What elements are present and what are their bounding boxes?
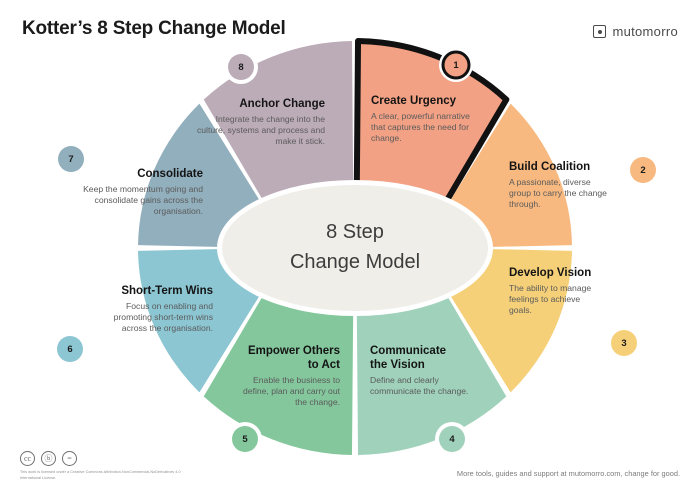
step-badge-1[interactable]: 1 [439, 48, 473, 82]
support-text: More tools, guides and support at mutomo… [457, 469, 680, 478]
segment-description: Focus on enabling andpromoting short-ter… [114, 301, 214, 333]
segment-title: Build Coalition [509, 161, 590, 173]
segment-title: Create Urgency [371, 95, 457, 107]
step-badge-7[interactable]: 7 [54, 142, 88, 176]
cc-by-icon: ⓑ [41, 451, 56, 466]
badge-number: 4 [449, 434, 455, 445]
badge-number: 1 [453, 60, 459, 71]
step-badge-5[interactable]: 5 [228, 422, 262, 456]
badge-number: 8 [238, 62, 243, 73]
hub-line-1: 8 Step [326, 221, 384, 243]
segment-title: Anchor Change [239, 98, 325, 110]
badge-number: 5 [242, 434, 248, 445]
badge-number: 2 [640, 165, 645, 176]
wheel-hub: 8 Step Change Model [217, 180, 493, 316]
step-badge-4[interactable]: 4 [435, 422, 469, 456]
segment-title: Develop Vision [509, 267, 591, 279]
badge-number: 3 [621, 338, 626, 349]
license-text: This work is licensed under a Creative C… [20, 470, 200, 481]
cc-nd-icon: = [62, 451, 77, 466]
cc-icon: cc [20, 451, 35, 466]
step-badge-3[interactable]: 3 [607, 326, 641, 360]
step-badge-2[interactable]: 2 [626, 153, 660, 187]
segment-title: Short-Term Wins [121, 285, 213, 297]
diagram-page: Kotter’s 8 Step Change Model mutomorro 8… [0, 0, 700, 495]
creative-commons-block: ccⓑ= This work is licensed under a Creat… [20, 451, 200, 481]
segment-title: Consolidate [137, 168, 203, 180]
step-badge-6[interactable]: 6 [53, 332, 87, 366]
cc-icon-row: ccⓑ= [20, 451, 200, 466]
kotter-wheel: 8 Step Change Model Create UrgencyA clea… [0, 0, 700, 495]
step-badge-8[interactable]: 8 [224, 50, 258, 84]
badge-number: 7 [68, 154, 73, 165]
segment-label-6: Short-Term WinsFocus on enabling andprom… [114, 285, 214, 333]
badge-number: 6 [67, 344, 72, 355]
hub-line-2: Change Model [290, 251, 420, 273]
